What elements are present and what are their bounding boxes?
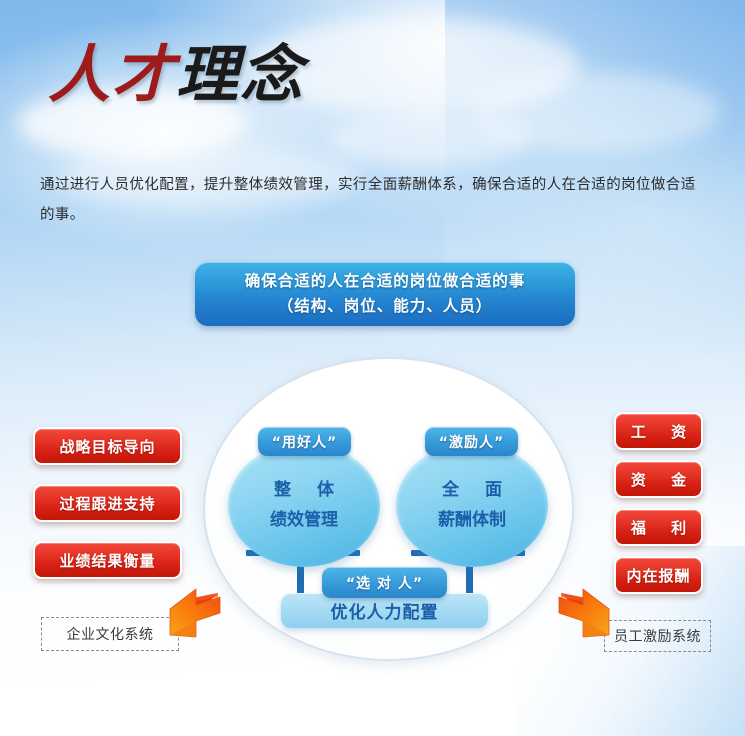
tag-use-people-well[interactable]: “用好人” — [258, 427, 351, 456]
pill-welfare[interactable]: 福 利 — [614, 508, 703, 546]
label-employee-incentive-system: 员工激励系统 — [604, 620, 711, 652]
headline-banner-line1: 确保合适的人在合适的岗位做合适的事 — [245, 269, 526, 294]
node-optimize-staffing[interactable]: 优化人力配置 — [281, 593, 488, 628]
node-compensation-system[interactable]: 全 面 薪酬体制 — [396, 443, 548, 567]
headline-banner-line2: （结构、岗位、能力、人员） — [278, 294, 493, 319]
headline-banner: 确保合适的人在合适的岗位做合适的事 （结构、岗位、能力、人员） — [195, 262, 575, 326]
node-performance-line1: 整 体 — [264, 475, 344, 505]
infographic-canvas: 人才理念 通过进行人员优化配置，提升整体绩效管理，实行全面薪酬体系，确保合适的人… — [0, 0, 745, 736]
tag-select-right-people[interactable]: “选 对 人” — [322, 567, 447, 598]
cloud-shape — [330, 112, 530, 166]
page-title: 人才理念 — [48, 44, 304, 106]
arrow-up-right-icon — [166, 583, 228, 645]
node-compensation-line2: 薪酬体制 — [438, 505, 506, 535]
intro-paragraph: 通过进行人员优化配置，提升整体绩效管理，实行全面薪酬体系，确保合适的人在合适的岗… — [40, 170, 700, 230]
tag-motivate-people[interactable]: “激励人” — [425, 427, 518, 456]
node-performance-line2: 绩效管理 — [270, 505, 338, 535]
arrow-up-left-icon — [551, 583, 613, 645]
page-title-red: 人才 — [48, 38, 176, 111]
label-corporate-culture-system: 企业文化系统 — [41, 617, 179, 651]
pill-process-follow-up-support[interactable]: 过程跟进支持 — [33, 484, 182, 522]
pill-strategy-goal-orientation[interactable]: 战略目标导向 — [33, 427, 182, 465]
pill-performance-result-measure[interactable]: 业绩结果衡量 — [33, 541, 182, 579]
pill-intrinsic-reward[interactable]: 内在报酬 — [614, 556, 703, 594]
node-compensation-line1: 全 面 — [432, 475, 512, 505]
page-title-black: 理念 — [176, 38, 304, 111]
node-performance-management[interactable]: 整 体 绩效管理 — [228, 443, 380, 567]
pill-salary[interactable]: 工 资 — [614, 412, 703, 450]
pill-bonus[interactable]: 资 金 — [614, 460, 703, 498]
